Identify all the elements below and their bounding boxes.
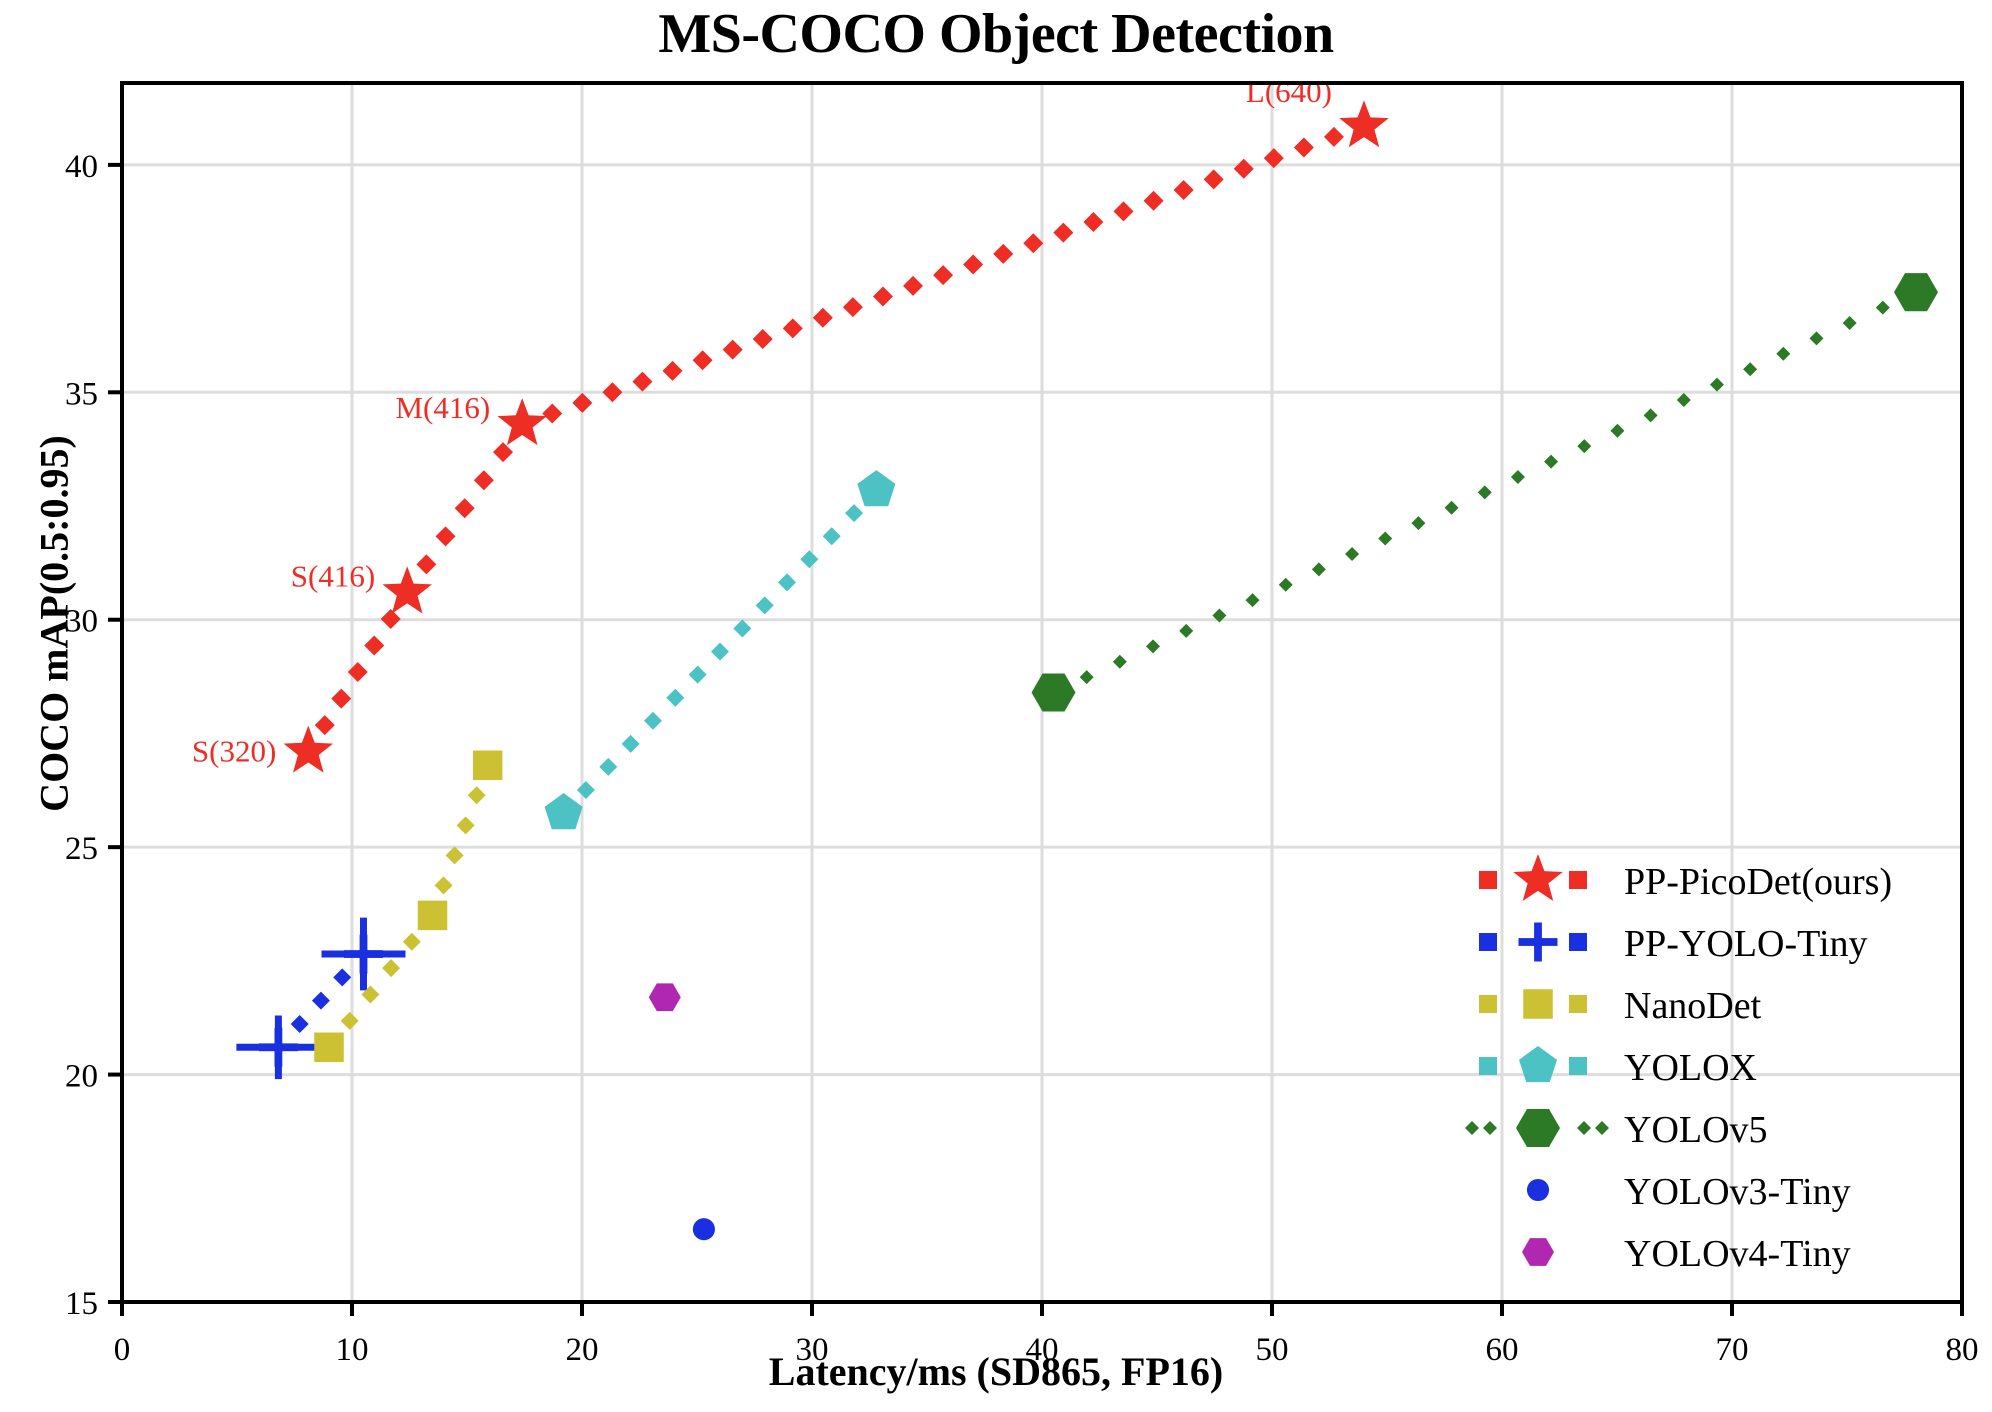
annotation-l640: L(640): [1246, 74, 1332, 109]
legend-line-dot: [1479, 871, 1497, 889]
series-yolox: [545, 470, 896, 829]
series-connector-dot: [689, 666, 707, 684]
series-connector-dot: [493, 442, 513, 462]
series-connector-dot: [1710, 378, 1724, 392]
series-connector-dot: [933, 265, 953, 285]
series-connector-dot: [403, 933, 421, 951]
legend-line-dot: [1479, 995, 1497, 1013]
legend-item-yolov3-tiny[interactable]: YOLOv3-Tiny: [1527, 1171, 1851, 1213]
legend-line-dot: [1479, 1057, 1497, 1075]
annotation-s416: S(416): [291, 558, 375, 593]
data-point-yolov4-tiny-0: [649, 983, 681, 1011]
series-connector-dot: [1246, 593, 1260, 607]
data-point-yolov3-tiny-0: [693, 1218, 715, 1240]
series-connector-dot: [733, 619, 751, 637]
series-connector-dot: [666, 689, 684, 707]
series-connector-dot: [1113, 201, 1133, 221]
legend-marker: [1527, 1179, 1549, 1201]
series-connector-dot: [1511, 470, 1525, 484]
legend-marker: [1513, 854, 1562, 901]
legend-item-nanodet[interactable]: NanoDet: [1479, 985, 1762, 1027]
series-connector-dot: [599, 758, 617, 776]
point-annotations: S(320)S(416)M(416)L(640): [192, 74, 1332, 768]
data-point-yolox-1: [857, 470, 895, 506]
legend-line-dot: [1577, 1121, 1591, 1135]
series-connector-dot: [1234, 159, 1254, 179]
series-connector-dot: [1146, 639, 1160, 653]
legend-line-dot: [1595, 1121, 1609, 1135]
series-connector-dot: [1174, 180, 1194, 200]
y-tick-label: 25: [65, 831, 98, 867]
data-point-yolox-0: [545, 793, 583, 829]
scatter-plot: 01020304050607080152025303540 S(320)S(41…: [0, 0, 1992, 1412]
legend-marker: [1516, 1109, 1560, 1147]
series-connector-dot: [693, 350, 713, 370]
series-connector-dot: [333, 968, 351, 986]
series-connector-dot: [663, 361, 683, 381]
series-yolov4-tiny: [649, 983, 681, 1011]
series-connector-dot: [364, 635, 384, 655]
series-connector-dot: [1113, 655, 1127, 669]
series-connector-dot: [572, 393, 592, 413]
legend-line-dot: [1569, 933, 1587, 951]
x-axis-label: Latency/ms (SD865, FP16): [0, 1348, 1992, 1395]
legend-line-dot: [1569, 1057, 1587, 1075]
chart-page: MS-COCO Object Detection COCO mAP(0.5:0.…: [0, 0, 1992, 1412]
series-connector-dot: [1577, 439, 1591, 453]
series-connector-dot: [632, 372, 652, 392]
legend-marker: [1522, 1238, 1554, 1266]
data-point-pp-picodet-ours-1: [382, 566, 431, 613]
series-connector-dot: [1776, 347, 1790, 361]
series-pp-picodet-ours: [284, 100, 1389, 772]
legend[interactable]: PP-PicoDet(ours)PP-YOLO-TinyNanoDetYOLOX…: [1465, 854, 1892, 1275]
series-connector-dot: [1312, 562, 1326, 576]
y-tick-label: 15: [65, 1286, 98, 1322]
legend-line-dot: [1483, 1121, 1497, 1135]
annotation-m416: M(416): [395, 390, 490, 425]
legend-line-dot: [1465, 1121, 1479, 1135]
series-connector-dot: [1610, 424, 1624, 438]
legend-item-pp-picodet-ours[interactable]: PP-PicoDet(ours): [1479, 854, 1892, 903]
legend-label: PP-PicoDet(ours): [1624, 861, 1892, 903]
legend-label: YOLOv3-Tiny: [1624, 1171, 1851, 1213]
series-connector-dot: [723, 340, 743, 360]
series-connector-dot: [577, 781, 595, 799]
series-connector-dot: [457, 816, 475, 834]
series-connector-dot: [341, 1012, 359, 1030]
series-connector-dot: [1478, 485, 1492, 499]
legend-label: YOLOv4-Tiny: [1624, 1233, 1851, 1275]
series-connector-dot: [381, 609, 401, 629]
series-nanodet: [314, 751, 502, 1063]
series-connector-dot: [435, 876, 453, 894]
series-connector-dot: [1083, 212, 1103, 232]
series-connector-dot: [778, 573, 796, 591]
series-connector-dot: [963, 255, 983, 275]
series-connector-dot: [622, 735, 640, 753]
series-connector-dot: [823, 527, 841, 545]
series-connector-dot: [1644, 408, 1658, 422]
series-connector-dot: [1809, 331, 1823, 345]
series-connector-dot: [1843, 316, 1857, 330]
data-point-pp-picodet-ours-3: [1339, 100, 1388, 147]
legend-label: YOLOX: [1624, 1047, 1757, 1089]
series-connector-dot: [1324, 127, 1344, 147]
series-connector-dot: [1204, 169, 1224, 189]
data-point-nanodet-0: [314, 1033, 344, 1063]
series-connector-dot: [291, 1015, 309, 1033]
series-connector-dot: [1677, 393, 1691, 407]
series-connector-dot: [644, 712, 662, 730]
legend-line-dot: [1479, 933, 1497, 951]
legend-line-dot: [1569, 871, 1587, 889]
series-connector-dot: [845, 504, 863, 522]
series-connector-dot: [602, 382, 622, 402]
series-connector-dot: [1144, 191, 1164, 211]
series-connector-dot: [436, 526, 456, 546]
series-connector-dot: [416, 554, 436, 574]
series-connector-dot: [753, 329, 773, 349]
data-point-nanodet-2: [473, 751, 503, 781]
series-connector-dot: [315, 715, 335, 735]
series-connector-dot: [993, 244, 1013, 264]
series-connector-dot: [455, 498, 475, 518]
series-connector-dot: [1294, 137, 1314, 157]
series-connector-dot: [312, 992, 330, 1010]
y-tick-label: 20: [65, 1059, 98, 1095]
legend-marker: [1519, 1046, 1557, 1082]
y-tick-label: 35: [65, 376, 98, 412]
series-connector-dot: [1279, 578, 1293, 592]
legend-item-yolov4-tiny[interactable]: YOLOv4-Tiny: [1522, 1233, 1851, 1275]
y-tick-label: 40: [65, 149, 98, 185]
series-connector-dot: [800, 550, 818, 568]
legend-label: PP-YOLO-Tiny: [1624, 923, 1868, 965]
data-point-pp-yolo-tiny-0: [259, 1028, 298, 1067]
legend-label: YOLOv5: [1624, 1109, 1768, 1151]
data-point-yolov5-0: [1032, 673, 1076, 711]
series-connector-dot: [468, 786, 486, 804]
legend-label: NanoDet: [1624, 985, 1762, 1027]
data-point-nanodet-1: [418, 901, 448, 931]
series-connector-dot: [1876, 301, 1890, 315]
series-connector-dot: [1179, 624, 1193, 638]
series-connector-dot: [1445, 501, 1459, 515]
series-connector-dot: [873, 286, 893, 306]
legend-item-pp-yolo-tiny[interactable]: PP-YOLO-Tiny: [1479, 923, 1868, 966]
series-connector-dot: [1411, 516, 1425, 530]
series-connector-dot: [903, 276, 923, 296]
series-yolov5: [1032, 273, 1939, 711]
series-connector-dot: [1544, 455, 1558, 469]
legend-marker: [1523, 989, 1553, 1019]
legend-line-dot: [1569, 995, 1587, 1013]
legend-marker: [1519, 923, 1558, 962]
series-connector-dot: [756, 596, 774, 614]
series-connector-dot: [382, 959, 400, 977]
series-connector-dot: [843, 297, 863, 317]
series-connector-dot: [1023, 233, 1043, 253]
series-connector-dot: [711, 643, 729, 661]
legend-item-yolox[interactable]: YOLOX: [1479, 1046, 1757, 1089]
series-connector-dot: [1053, 223, 1073, 243]
data-point-pp-yolo-tiny-1: [344, 935, 383, 974]
series-connector-dot: [1743, 362, 1757, 376]
legend-item-yolov5[interactable]: YOLOv5: [1465, 1109, 1768, 1151]
data-point-yolov5-1: [1894, 273, 1938, 311]
series-connector-dot: [474, 470, 494, 490]
series-connector-dot: [1378, 532, 1392, 546]
series-connector-dot: [331, 689, 351, 709]
annotation-s320: S(320): [192, 734, 276, 769]
series-connector-dot: [813, 308, 833, 328]
series-connector-dot: [542, 403, 562, 423]
series-connector-dot: [446, 846, 464, 864]
series-connector-dot: [1080, 670, 1094, 684]
series-yolov3-tiny: [693, 1218, 715, 1240]
series-connector-dot: [1345, 547, 1359, 561]
data-point-pp-picodet-ours-2: [497, 398, 546, 445]
series-connector-dot: [783, 318, 803, 338]
y-tick-label: 30: [65, 604, 98, 640]
